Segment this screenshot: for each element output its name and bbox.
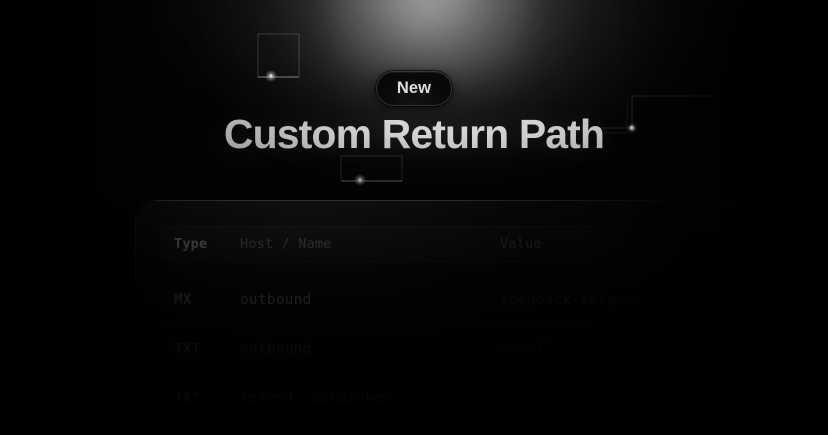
dns-records-table: Type Host / Name Value MX outbound feedb…: [160, 226, 828, 422]
ambient-glow-hotspot: [330, 0, 530, 80]
badge-container: New: [0, 71, 828, 106]
header-spacer: [160, 262, 828, 275]
new-badge: New: [376, 71, 452, 106]
column-header-type: Type: [160, 236, 240, 252]
cell-record-value: p=MIGfMA0GCSqGSIb3DQEBAQUAA4GNADCBiQKBgQ: [500, 390, 828, 406]
cell-record-host: outbound: [240, 341, 500, 357]
column-header-value: Value: [500, 236, 828, 252]
dns-records-card: Type Host / Name Value MX outbound feedb…: [135, 200, 828, 435]
cell-record-value: feedback-smtp.us-east-1.amazonses.com: [500, 292, 828, 308]
page-title: Custom Return Path: [0, 112, 828, 157]
cell-record-type: TXT: [160, 390, 240, 406]
table-row[interactable]: MX outbound feedback-smtp.us-east-1.amaz…: [160, 275, 828, 324]
table-header-row: Type Host / Name Value: [160, 226, 828, 262]
cell-record-type: MX: [160, 292, 240, 308]
column-header-host: Host / Name: [240, 236, 500, 252]
blueprint-rect-center: [341, 156, 402, 186]
hero-banner: New Custom Return Path Type Host / Name …: [0, 0, 828, 435]
cell-record-type: TXT: [160, 341, 240, 357]
cell-record-host: outbound: [240, 292, 500, 308]
card-left-border: [135, 200, 136, 435]
cell-record-host: resend._domainkey: [240, 390, 500, 406]
table-row[interactable]: TXT outbound v=spf1 include:amazonses.co…: [160, 324, 828, 373]
table-row[interactable]: TXT resend._domainkey p=MIGfMA0GCSqGSIb3…: [160, 373, 828, 422]
card-top-border: [135, 200, 828, 201]
cell-record-value: v=spf1 include:amazonses.com ~all: [500, 341, 828, 357]
